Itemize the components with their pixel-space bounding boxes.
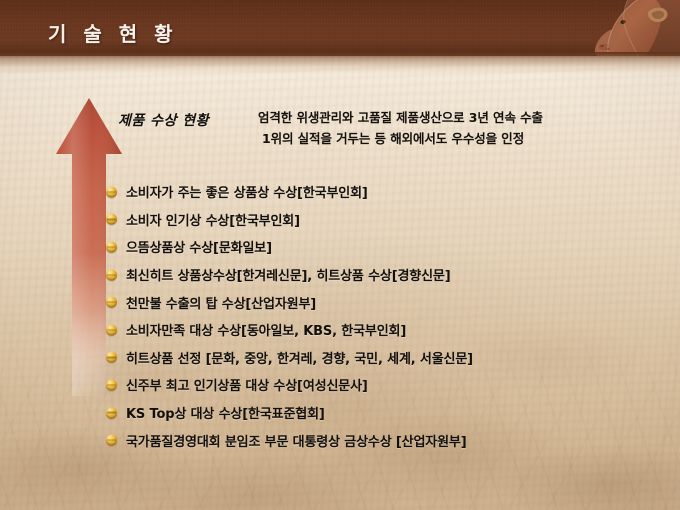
list-item: 소비자만족 대상 수상[동아일보, KBS, 한국부인회] xyxy=(106,316,666,344)
section-subtitle: 제품 수상 현황 xyxy=(118,110,209,130)
award-label: 국가품질경영대회 분임조 부문 대통령상 금상수상 [산업자원부] xyxy=(126,431,467,450)
presentation-slide: 기 술 현 황 xyxy=(0,0,680,510)
lead-line-1: 엄격한 위생관리와 고품질 제품생산으로 3년 연속 수출 xyxy=(258,107,606,128)
lead-line-2: 1위의 실적을 거두는 등 해외에서도 우수성을 인정 xyxy=(258,128,606,149)
award-label: 천만불 수출의 탑 수상[산업자원부] xyxy=(126,293,316,312)
gold-sphere-bullet-icon xyxy=(106,241,117,252)
award-label: 소비자만족 대상 수상[동아일보, KBS, 한국부인회] xyxy=(126,320,406,339)
list-item: 소비자가 주는 좋은 상품상 수상[한국부인회] xyxy=(106,178,666,206)
award-label: KS Top상 대상 수상[한국표준협회] xyxy=(126,403,325,422)
gold-sphere-bullet-icon xyxy=(106,186,117,197)
list-item: 으뜸상품상 수상[문화일보] xyxy=(106,233,666,261)
award-label: 신주부 최고 인기상품 대상 수상[여성신문사] xyxy=(126,375,368,394)
list-item: 신주부 최고 인기상품 대상 수상[여성신문사] xyxy=(106,371,666,399)
award-label: 으뜸상품상 수상[문화일보] xyxy=(126,237,272,256)
award-label: 소비자 인기상 수상[한국부인회] xyxy=(126,210,300,229)
award-label: 히트상품 선정 [문화, 중앙, 한겨레, 경향, 국민, 세계, 서울신문] xyxy=(126,348,473,367)
list-item: KS Top상 대상 수상[한국표준협회] xyxy=(106,399,666,427)
award-list: 소비자가 주는 좋은 상품상 수상[한국부인회] 소비자 인기상 수상[한국부인… xyxy=(106,178,666,454)
gold-sphere-bullet-icon xyxy=(106,269,117,280)
gold-sphere-bullet-icon xyxy=(106,352,117,363)
header-fade-gradient xyxy=(0,52,680,78)
page-title: 기 술 현 황 xyxy=(48,18,178,47)
gold-sphere-bullet-icon xyxy=(106,435,117,446)
list-item: 히트상품 선정 [문화, 중앙, 한겨레, 경향, 국민, 세계, 서울신문] xyxy=(106,344,666,372)
gold-sphere-bullet-icon xyxy=(106,297,117,308)
list-item: 최신히트 상품상수상[한겨레신문], 히트상품 수상[경향신문] xyxy=(106,261,666,289)
award-label: 소비자가 주는 좋은 상품상 수상[한국부인회] xyxy=(126,182,368,201)
award-label: 최신히트 상품상수상[한겨레신문], 히트상품 수상[경향신문] xyxy=(126,265,451,284)
gold-sphere-bullet-icon xyxy=(106,214,117,225)
gold-sphere-bullet-icon xyxy=(106,407,117,418)
slide-header-band: 기 술 현 황 xyxy=(0,0,680,56)
gold-sphere-bullet-icon xyxy=(106,324,117,335)
list-item: 소비자 인기상 수상[한국부인회] xyxy=(106,206,666,234)
gold-sphere-bullet-icon xyxy=(106,379,117,390)
list-item: 천만불 수출의 탑 수상[산업자원부] xyxy=(106,288,666,316)
lead-description: 엄격한 위생관리와 고품질 제품생산으로 3년 연속 수출 1위의 실적을 거두… xyxy=(258,107,606,149)
list-item: 국가품질경영대회 분임조 부문 대통령상 금상수상 [산업자원부] xyxy=(106,426,666,454)
cow-head-icon xyxy=(574,0,680,56)
